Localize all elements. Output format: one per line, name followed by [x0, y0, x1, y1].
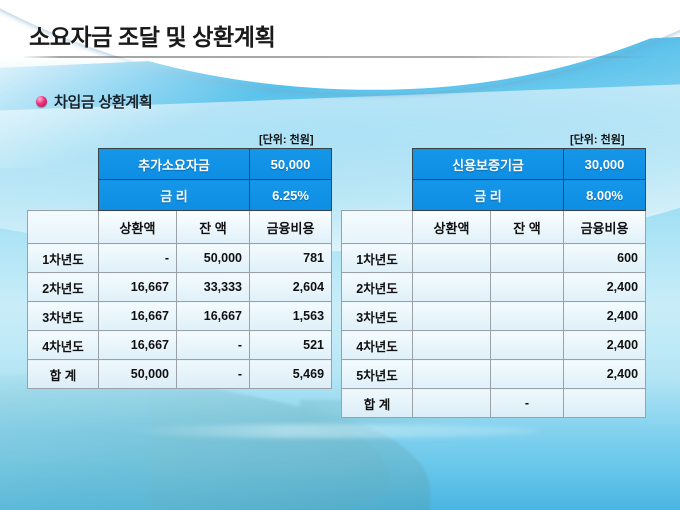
cell-balance-year4: - [177, 331, 250, 360]
cell-balance-year1: 50,000 [177, 244, 250, 273]
cell-cost-total [564, 389, 646, 418]
cell-repayment-year2 [413, 273, 491, 302]
table-header-row: 상환액 잔 액 금융비용 [28, 211, 332, 244]
cell-repayment-year1 [413, 244, 491, 273]
bullet-circle-icon [36, 96, 47, 107]
row-label-year3: 3차년도 [342, 302, 413, 331]
cell-balance-total: - [177, 360, 250, 389]
cell-repayment-total: 50,000 [99, 360, 177, 389]
cell-balance-year4 [491, 331, 564, 360]
cell-repayment-year1: - [99, 244, 177, 273]
table-total-row: 합 계 50,000 - 5,469 [28, 360, 332, 389]
slide-canvas: 소요자금 조달 및 상환계획 차입금 상환계획 [단위: 천원] [단위: 천원… [0, 0, 680, 510]
cell-cost-total: 5,469 [250, 360, 332, 389]
row-label-year4: 4차년도 [28, 331, 99, 360]
summary-row-rate: 금 리 6.25% [28, 180, 332, 211]
section-heading-label: 차입금 상환계획 [54, 91, 152, 112]
summary-value-rate: 6.25% [250, 180, 332, 211]
left-repayment-table: 추가소요자금 50,000 금 리 6.25% 상환액 잔 액 금융비용 1차년… [27, 148, 331, 389]
row-label-year2: 2차년도 [28, 273, 99, 302]
summary-spacer [28, 149, 99, 180]
cell-repayment-year3: 16,667 [99, 302, 177, 331]
summary-row-principal: 추가소요자금 50,000 [28, 149, 332, 180]
summary-label-principal: 추가소요자금 [99, 149, 250, 180]
cell-balance-year2: 33,333 [177, 273, 250, 302]
summary-value-rate: 8.00% [564, 180, 646, 211]
summary-label-rate: 금 리 [413, 180, 564, 211]
table-row: 1차년도 600 [342, 244, 646, 273]
title-divider [22, 56, 658, 58]
cell-cost-year5: 2,400 [564, 360, 646, 389]
cell-repayment-total [413, 389, 491, 418]
table-row: 2차년도 2,400 [342, 273, 646, 302]
row-label-year4: 4차년도 [342, 331, 413, 360]
column-header-balance: 잔 액 [177, 211, 250, 244]
summary-spacer [28, 180, 99, 211]
summary-value-guarantee: 30,000 [564, 149, 646, 180]
column-header-balance: 잔 액 [491, 211, 564, 244]
section-heading: 차입금 상환계획 [36, 91, 152, 112]
unit-caption-right: [단위: 천원] [570, 131, 625, 147]
cell-balance-year1 [491, 244, 564, 273]
table-row: 1차년도 - 50,000 781 [28, 244, 332, 273]
cell-cost-year1: 600 [564, 244, 646, 273]
column-header-finance-cost: 금융비용 [250, 211, 332, 244]
cell-cost-year2: 2,400 [564, 273, 646, 302]
summary-spacer [342, 180, 413, 211]
cell-repayment-year2: 16,667 [99, 273, 177, 302]
column-header-repayment: 상환액 [413, 211, 491, 244]
cell-repayment-year3 [413, 302, 491, 331]
cell-repayment-year4: 16,667 [99, 331, 177, 360]
cell-balance-year5 [491, 360, 564, 389]
table-row: 4차년도 16,667 - 521 [28, 331, 332, 360]
table-row: 3차년도 16,667 16,667 1,563 [28, 302, 332, 331]
cell-balance-year2 [491, 273, 564, 302]
column-header-blank [28, 211, 99, 244]
column-header-repayment: 상환액 [99, 211, 177, 244]
table-header-row: 상환액 잔 액 금융비용 [342, 211, 646, 244]
cell-cost-year3: 1,563 [250, 302, 332, 331]
table-row: 5차년도 2,400 [342, 360, 646, 389]
row-label-year1: 1차년도 [342, 244, 413, 273]
row-label-total: 합 계 [342, 389, 413, 418]
table-row: 3차년도 2,400 [342, 302, 646, 331]
table-row: 2차년도 16,667 33,333 2,604 [28, 273, 332, 302]
row-label-year5: 5차년도 [342, 360, 413, 389]
column-header-finance-cost: 금융비용 [564, 211, 646, 244]
column-header-blank [342, 211, 413, 244]
summary-label-rate: 금 리 [99, 180, 250, 211]
table-row: 4차년도 2,400 [342, 331, 646, 360]
unit-caption-left: [단위: 천원] [259, 131, 314, 147]
cell-repayment-year4 [413, 331, 491, 360]
cell-cost-year4: 521 [250, 331, 332, 360]
cell-cost-year2: 2,604 [250, 273, 332, 302]
summary-row-rate: 금 리 8.00% [342, 180, 646, 211]
cell-cost-year4: 2,400 [564, 331, 646, 360]
cell-repayment-year5 [413, 360, 491, 389]
summary-value-principal: 50,000 [250, 149, 332, 180]
row-label-year3: 3차년도 [28, 302, 99, 331]
page-title: 소요자금 조달 및 상환계획 [29, 18, 275, 52]
cell-balance-year3: 16,667 [177, 302, 250, 331]
row-label-year1: 1차년도 [28, 244, 99, 273]
summary-spacer [342, 149, 413, 180]
right-repayment-table: 신용보증기금 30,000 금 리 8.00% 상환액 잔 액 금융비용 1차년… [341, 148, 645, 418]
row-label-year2: 2차년도 [342, 273, 413, 302]
row-label-total: 합 계 [28, 360, 99, 389]
cell-balance-total: - [491, 389, 564, 418]
summary-row-guarantee: 신용보증기금 30,000 [342, 149, 646, 180]
table-total-row: 합 계 - [342, 389, 646, 418]
cell-cost-year1: 781 [250, 244, 332, 273]
summary-label-guarantee: 신용보증기금 [413, 149, 564, 180]
cell-cost-year3: 2,400 [564, 302, 646, 331]
cell-balance-year3 [491, 302, 564, 331]
